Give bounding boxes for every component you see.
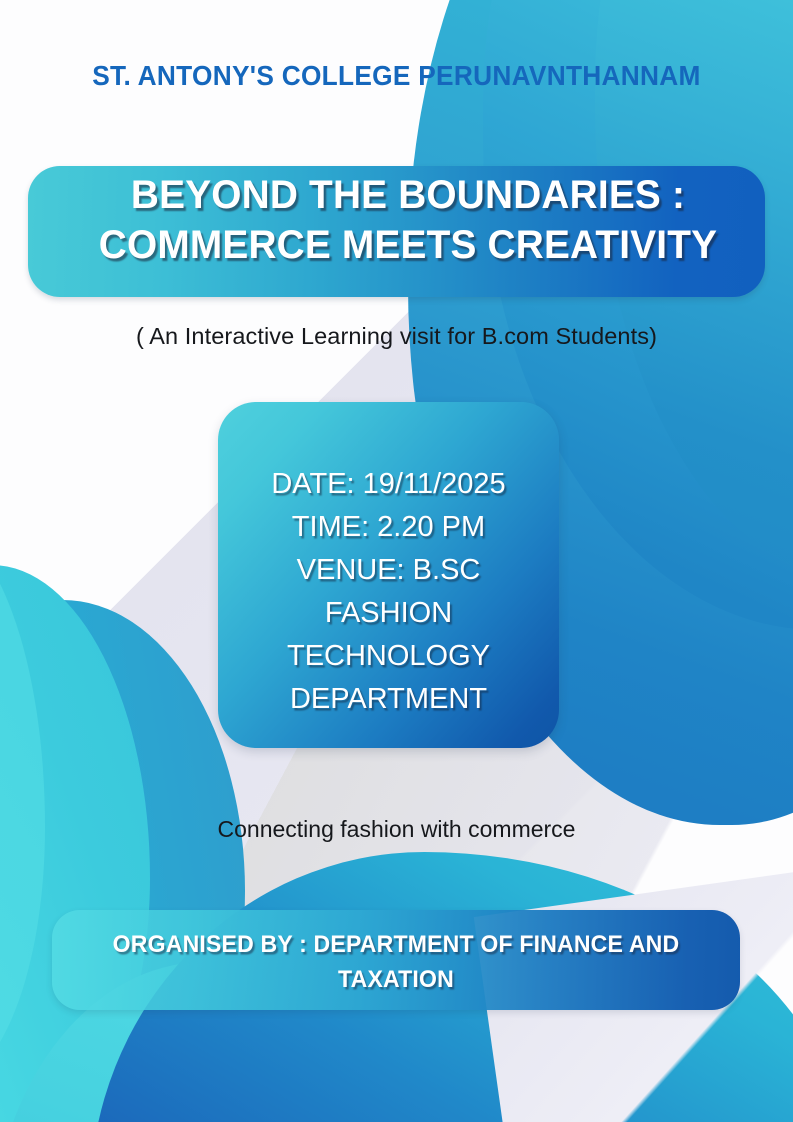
- organiser-line-2: TAXATION: [338, 966, 454, 993]
- poster-content: ST. ANTONY'S COLLEGE PERUNAVNTHANNAM BEY…: [0, 0, 793, 1122]
- event-title-line-1: BEYOND THE BOUNDARIES :: [131, 173, 685, 217]
- event-subtitle: ( An Interactive Learning visit for B.co…: [0, 323, 793, 350]
- event-venue-line-2: FASHION: [218, 592, 559, 635]
- event-date: DATE: 19/11/2025: [218, 463, 559, 506]
- event-venue-line-3: TECHNOLOGY: [218, 635, 559, 678]
- event-venue-line-4: DEPARTMENT: [218, 678, 559, 721]
- organiser-line-1: ORGANISED BY : DEPARTMENT OF FINANCE AND: [113, 931, 680, 958]
- poster-canvas: ST. ANTONY'S COLLEGE PERUNAVNTHANNAM BEY…: [0, 0, 793, 1122]
- event-details-text: DATE: 19/11/2025 TIME: 2.20 PM VENUE: B.…: [218, 463, 559, 721]
- event-venue-line-1: VENUE: B.SC: [218, 549, 559, 592]
- event-title-line-2: COMMERCE MEETS CREATIVITY: [99, 223, 717, 267]
- college-name-heading: ST. ANTONY'S COLLEGE PERUNAVNTHANNAM: [18, 60, 775, 92]
- event-title-text: BEYOND THE BOUNDARIES : COMMERCE MEETS C…: [39, 170, 776, 270]
- event-time: TIME: 2.20 PM: [218, 506, 559, 549]
- event-tagline: Connecting fashion with commerce: [0, 816, 793, 843]
- organiser-text: ORGANISED BY : DEPARTMENT OF FINANCE AND…: [66, 927, 726, 997]
